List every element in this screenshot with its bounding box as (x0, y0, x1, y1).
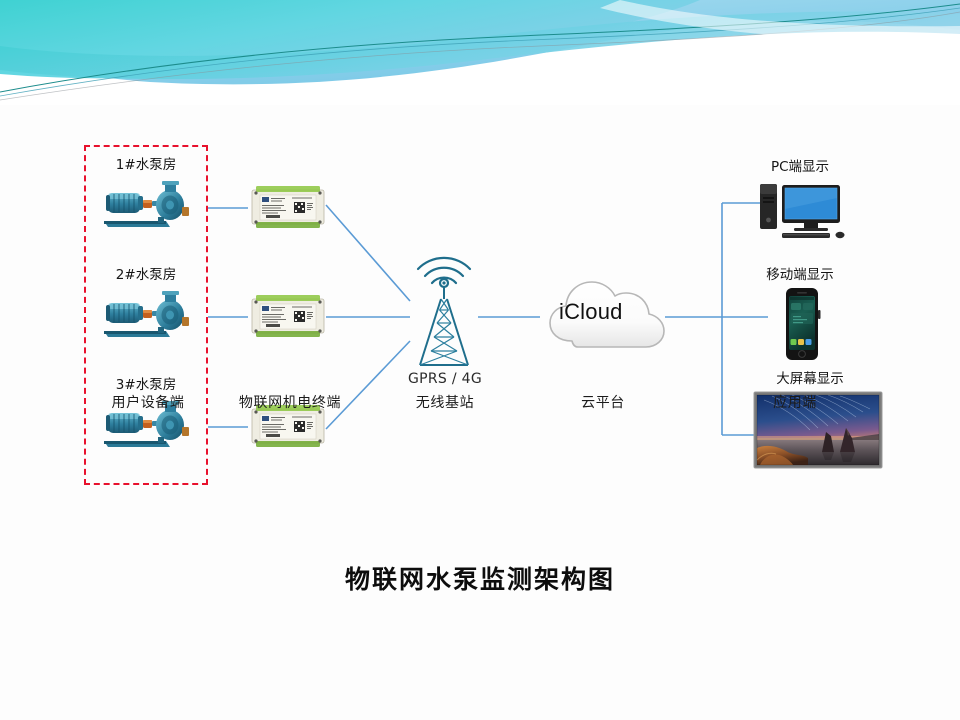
app-mobile-label: 移动端显示 (722, 263, 878, 283)
app-bigscreen: 大屏幕显示 (722, 367, 898, 478)
header-wave-decoration (0, 0, 960, 105)
pump-station-label: 3#水泵房 (84, 373, 208, 393)
app-mobile: 移动端显示 (722, 263, 878, 366)
column-caption-user-equipment: 用户设备端 (86, 392, 210, 412)
app-pc-label: PC端显示 (722, 155, 878, 175)
architecture-diagram: 1#水泵房 (0, 105, 960, 575)
app-pc: PC端显示 (722, 155, 878, 246)
iot-terminal-module-icon (250, 184, 326, 232)
iot-terminal-module-icon (250, 293, 326, 341)
desktop-computer-icon (740, 178, 860, 242)
column-caption-iot-terminal: 物联网机电终端 (220, 392, 360, 412)
water-pump-icon (96, 285, 196, 343)
water-pump-icon (96, 175, 196, 233)
iot-terminal-2 (250, 293, 326, 341)
cloud-label: iCloud (559, 299, 623, 325)
tower-label: GPRS / 4G (399, 371, 491, 387)
column-caption-base-station: 无线基站 (390, 392, 500, 412)
pump-station-3: 3#水泵房 (84, 373, 208, 453)
cell-tower-icon (398, 253, 490, 373)
column-caption-application: 应用端 (740, 392, 850, 412)
page-title: 物联网水泵监测架构图 (0, 560, 960, 596)
column-caption-cloud-platform: 云平台 (548, 392, 658, 412)
pump-station-label: 2#水泵房 (84, 263, 208, 283)
pump-station-1: 1#水泵房 (84, 153, 208, 233)
app-bigscreen-label: 大屏幕显示 (722, 367, 898, 387)
pump-station-2: 2#水泵房 (84, 263, 208, 343)
iot-terminal-1 (250, 184, 326, 232)
smartphone-icon (740, 286, 860, 362)
pump-station-label: 1#水泵房 (84, 153, 208, 173)
cell-tower (398, 253, 490, 373)
slide-canvas: 1#水泵房 (0, 0, 960, 720)
